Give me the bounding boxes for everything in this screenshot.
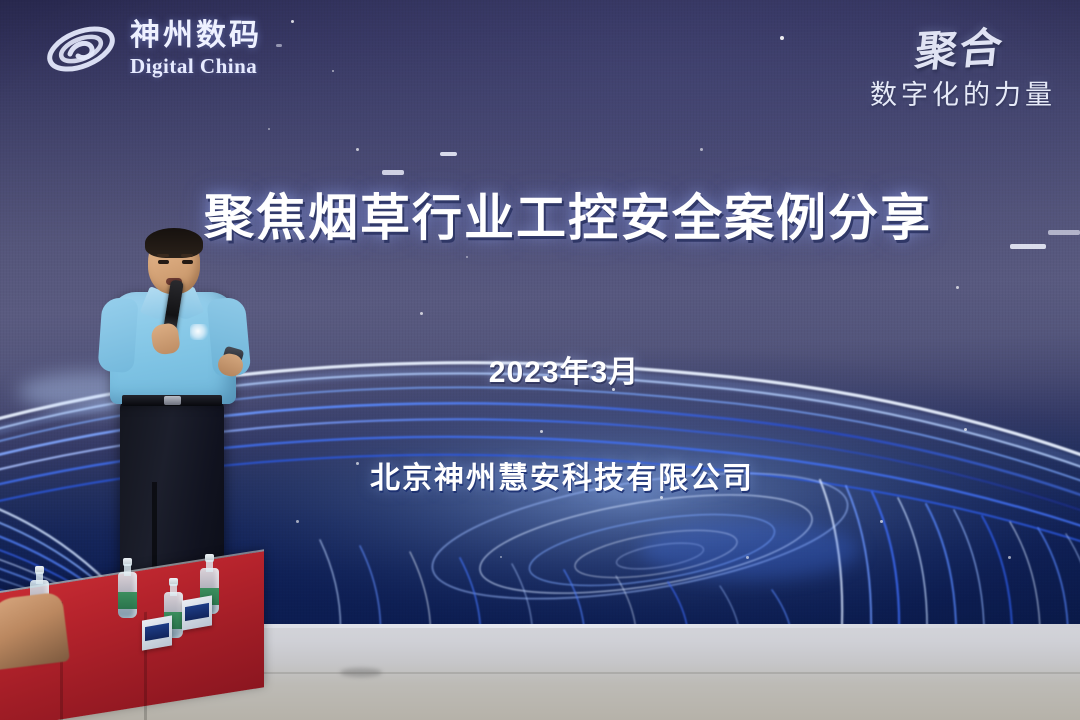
speaker-eye-right [182,260,193,264]
speaker-eye-left [158,260,169,264]
seated-attendee [0,592,70,671]
brand-name-en: Digital China [130,56,262,77]
speaker-eyebrow-left [157,254,169,257]
speaker-eyebrow-right [181,254,193,257]
speaker-sleeve-left [97,297,138,373]
speaker-hair [145,228,203,258]
brand-logo: 神州数码 Digital China [44,18,262,80]
stage-floor-scuff [340,668,382,677]
name-placard [142,615,172,650]
slogan-subtitle: 数字化的力量 [870,73,1056,112]
name-placard [182,595,212,630]
speaker-belt-buckle [164,396,181,405]
event-slogan: 聚合 数字化的力量 [870,16,1056,112]
brand-name-cn: 神州数码 [130,21,262,51]
slogan-calligraphy: 聚合 [912,14,1007,80]
water-bottle [118,558,137,618]
stage-scene: 神州数码 Digital China 聚合 数字化的力量 聚焦烟草行业工控安全案… [0,0,1080,720]
company-chest-logo-icon [190,324,210,340]
digital-china-swirl-icon [44,18,118,80]
